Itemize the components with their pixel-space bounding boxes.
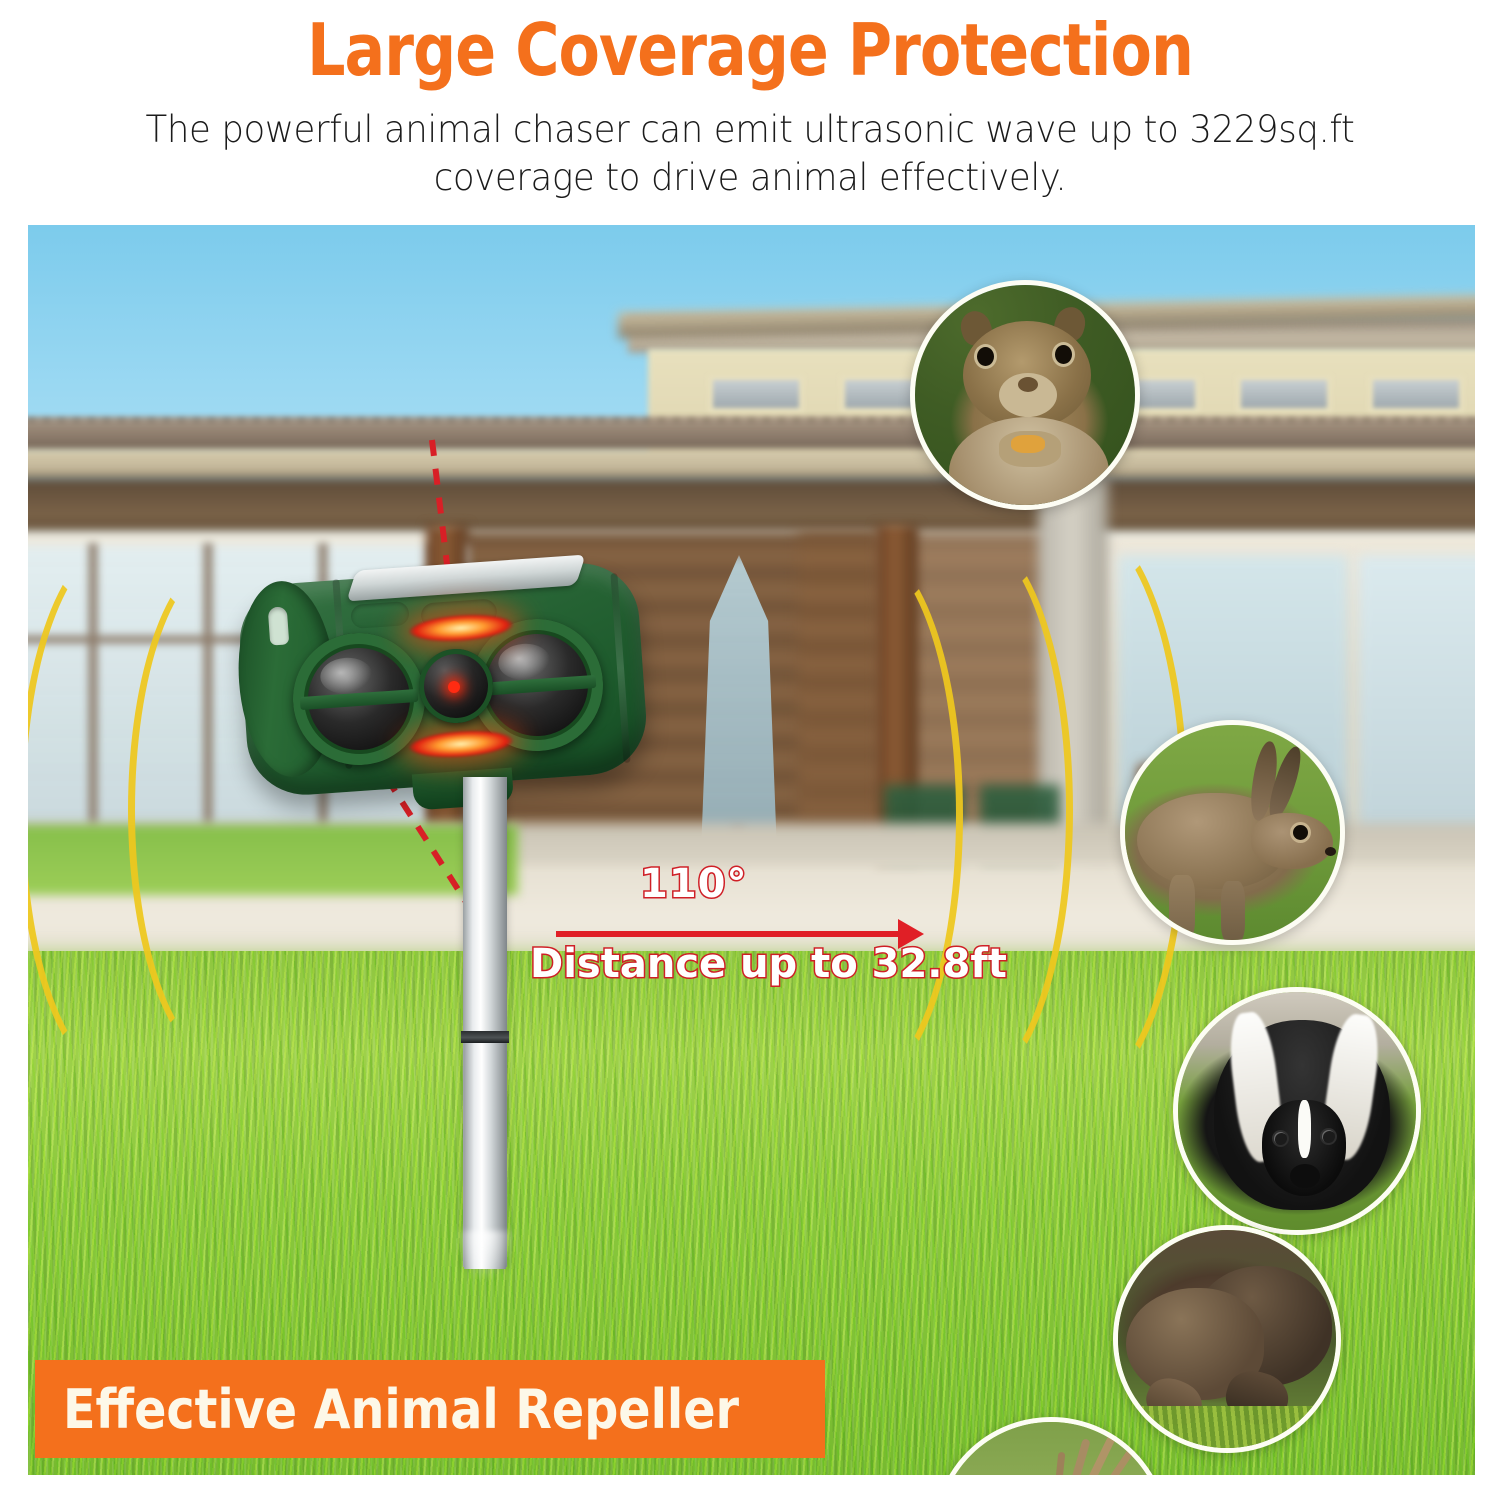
ultrasonic-repeller-device bbox=[233, 545, 653, 795]
mounting-hook-icon bbox=[268, 606, 290, 645]
animal-photo-wild-boars bbox=[1113, 1225, 1341, 1453]
sensor-led-indicator bbox=[448, 681, 460, 693]
animal-photo-skunk bbox=[1173, 987, 1421, 1235]
device-button-pad[interactable] bbox=[350, 601, 410, 629]
angle-label: 110° bbox=[640, 861, 748, 907]
page-subtitle: The powerful animal chaser can emit ultr… bbox=[78, 106, 1422, 202]
infographic-page: Large Coverage Protection The powerful a… bbox=[0, 0, 1500, 1500]
distance-arrow-line bbox=[556, 931, 906, 937]
bottom-banner: Effective Animal Repeller bbox=[35, 1360, 825, 1458]
page-title: Large Coverage Protection bbox=[53, 12, 1448, 90]
header-block: Large Coverage Protection The powerful a… bbox=[0, 0, 1500, 222]
animal-photo-squirrel bbox=[910, 280, 1140, 510]
animal-photo-elk-deer bbox=[933, 1417, 1169, 1475]
stake-joint-ring bbox=[461, 1031, 509, 1043]
product-scene-photo: 110° Distance up to 32.8ft bbox=[28, 225, 1475, 1475]
stake-ground-glow bbox=[456, 1231, 514, 1279]
distance-label: Distance up to 32.8ft bbox=[530, 941, 1007, 987]
bottom-banner-label: Effective Animal Repeller bbox=[63, 1378, 739, 1441]
animal-photo-hare bbox=[1120, 720, 1345, 945]
